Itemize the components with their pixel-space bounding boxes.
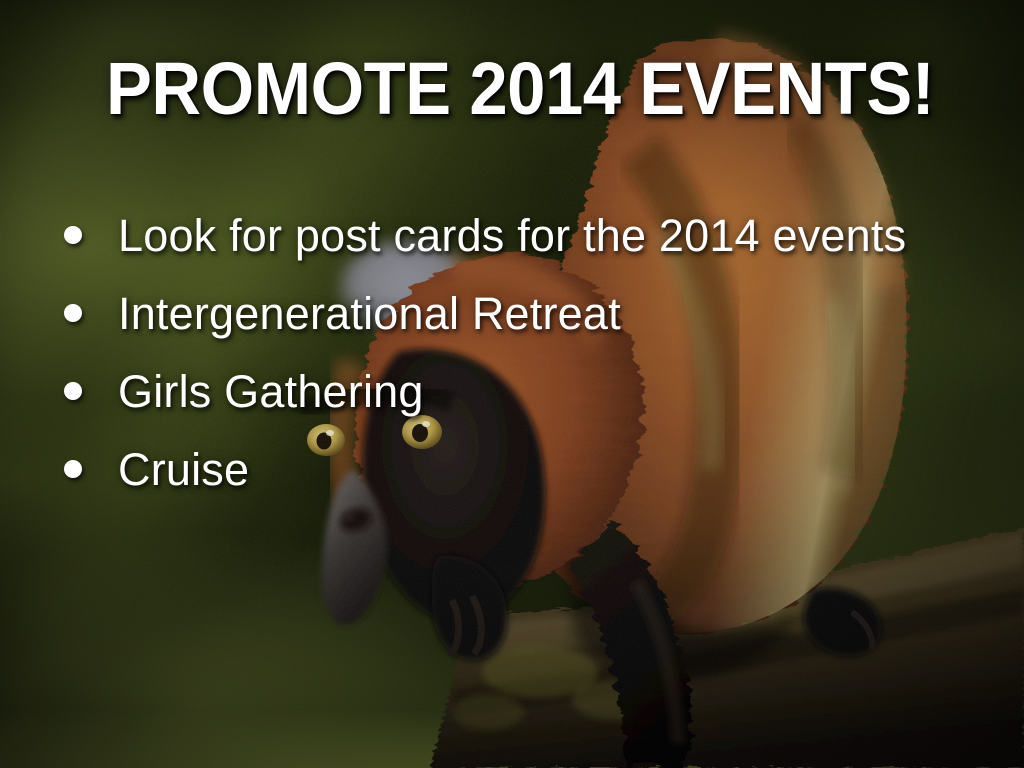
bullet-marker-icon: [64, 382, 82, 400]
slide-title: PROMOTE 2014 EVENTS!: [106, 52, 934, 126]
bullet-text: Intergenerational Retreat: [118, 291, 621, 336]
bullet-list: Look for post cards for the 2014 events …: [58, 196, 998, 508]
bullet-text: Look for post cards for the 2014 events: [118, 213, 906, 258]
list-item: Cruise: [58, 430, 998, 508]
list-item: Intergenerational Retreat: [58, 274, 998, 352]
presentation-slide: PROMOTE 2014 EVENTS! Look for post cards…: [0, 0, 1024, 768]
bullet-marker-icon: [64, 304, 82, 322]
bullet-text: Girls Gathering: [118, 369, 424, 414]
list-item: Girls Gathering: [58, 352, 998, 430]
bullet-text: Cruise: [118, 447, 249, 492]
bullet-marker-icon: [64, 226, 82, 244]
bullet-marker-icon: [64, 460, 82, 478]
list-item: Look for post cards for the 2014 events: [58, 196, 998, 274]
